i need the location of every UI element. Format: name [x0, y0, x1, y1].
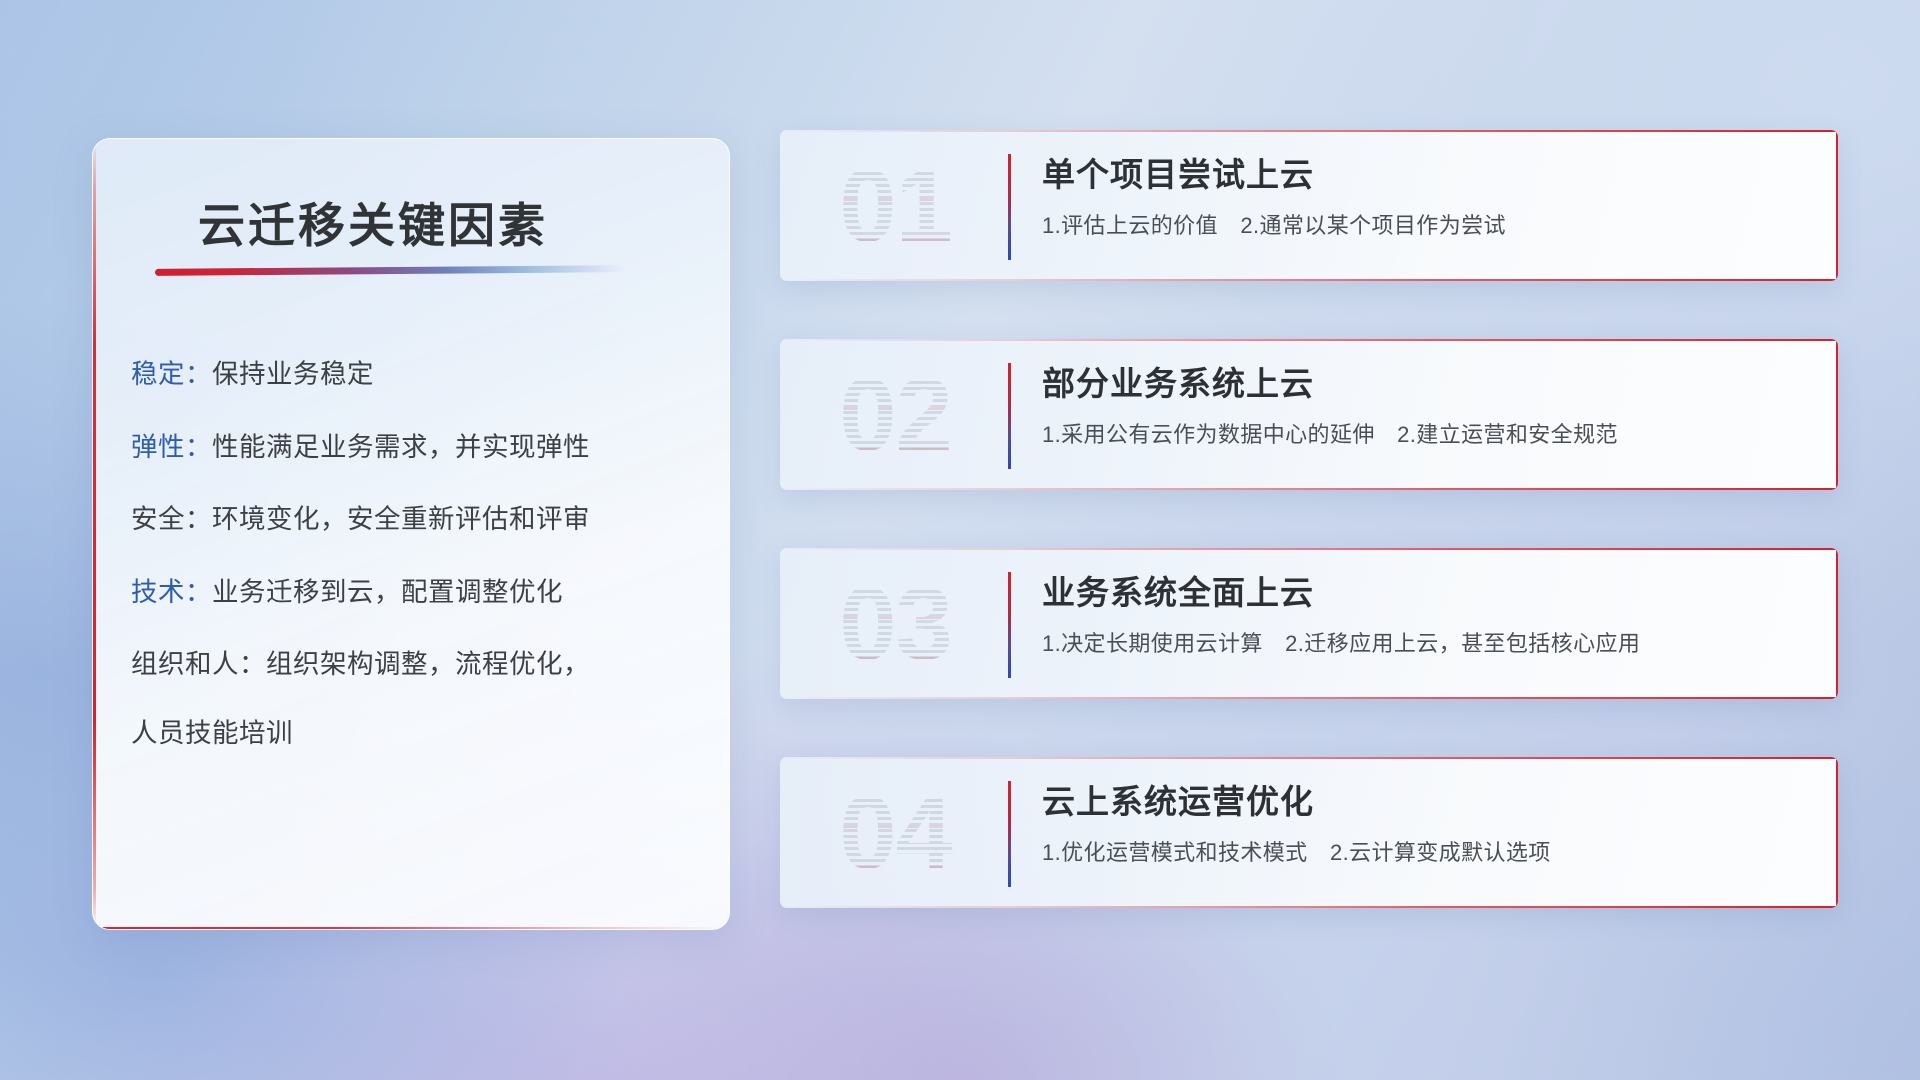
key-factor-row: 弹性：性能满足业务需求，并实现弹性: [131, 434, 711, 461]
key-factor-label: 安全：: [131, 504, 212, 534]
card-bottom-accent-edge: [780, 279, 1838, 281]
key-factor-row: 组织和人：组织架构调整，流程优化，: [131, 651, 711, 678]
stage-subtitle: 1.优化运营模式和技术模式 2.云计算变成默认选项: [1042, 835, 1551, 867]
stage-number-watermark-accent: 02: [808, 351, 983, 479]
stage-title: 部分业务系统上云: [1042, 357, 1314, 405]
card-right-accent-edge: [1836, 130, 1838, 281]
card-divider-bar: [1008, 154, 1011, 260]
key-factor-text: 性能满足业务需求，并实现弹性: [212, 432, 590, 462]
stage-subtitle: 1.决定长期使用云计算 2.迁移应用上云，甚至包括核心应用: [1042, 626, 1640, 658]
card-bottom-accent-edge: [780, 697, 1838, 699]
stage-card[interactable]: 0202部分业务系统上云1.采用公有云作为数据中心的延伸 2.建立运营和安全规范: [780, 339, 1838, 490]
panel-bottom-accent-edge: [93, 927, 729, 930]
key-factor-row: 安全：环境变化，安全重新评估和评审: [131, 506, 711, 533]
key-factor-text: 组织架构调整，流程优化，: [266, 649, 590, 679]
stage-subtitle: 1.评估上云的价值 2.通常以某个项目作为尝试: [1042, 208, 1506, 240]
card-bottom-accent-edge: [780, 488, 1838, 490]
card-top-accent-edge: [780, 339, 1838, 341]
key-factors-panel: 云迁移关键因素 稳定：保持业务稳定弹性：性能满足业务需求，并实现弹性安全：环境变…: [92, 138, 730, 930]
key-factor-label: 技术：: [131, 577, 212, 607]
panel-title-underline: [155, 265, 625, 276]
card-top-accent-edge: [780, 757, 1838, 759]
card-right-accent-edge: [1836, 339, 1838, 490]
stage-title: 云上系统运营优化: [1042, 775, 1314, 823]
key-factor-row: 稳定：保持业务稳定: [131, 361, 711, 388]
key-factor-label: 组织和人：: [131, 649, 266, 679]
key-factor-text: 保持业务稳定: [212, 359, 374, 389]
stage-title: 单个项目尝试上云: [1042, 148, 1314, 196]
card-divider-bar: [1008, 363, 1011, 469]
key-factor-text: 人员技能培训: [131, 718, 293, 748]
key-factor-row: 技术：业务迁移到云，配置调整优化: [131, 579, 711, 606]
key-factor-label: 弹性：: [131, 432, 212, 462]
stage-number-watermark-accent: 03: [808, 560, 983, 688]
card-right-accent-edge: [1836, 548, 1838, 699]
stage-subtitle: 1.采用公有云作为数据中心的延伸 2.建立运营和安全规范: [1042, 417, 1618, 449]
card-bottom-accent-edge: [780, 906, 1838, 908]
stage-title: 业务系统全面上云: [1042, 566, 1314, 614]
panel-title: 云迁移关键因素: [198, 187, 548, 256]
key-factor-text: 环境变化，安全重新评估和评审: [212, 504, 590, 534]
key-factors-list: 稳定：保持业务稳定弹性：性能满足业务需求，并实现弹性安全：环境变化，安全重新评估…: [131, 361, 711, 788]
stage-number-watermark-accent: 01: [808, 142, 983, 270]
card-top-accent-edge: [780, 130, 1838, 132]
card-right-accent-edge: [1836, 757, 1838, 908]
card-divider-bar: [1008, 572, 1011, 678]
key-factor-text: 业务迁移到云，配置调整优化: [212, 577, 563, 607]
stage-card[interactable]: 0404云上系统运营优化1.优化运营模式和技术模式 2.云计算变成默认选项: [780, 757, 1838, 908]
stages-card-list: 0101单个项目尝试上云1.评估上云的价值 2.通常以某个项目作为尝试0202部…: [780, 130, 1838, 966]
stage-number-watermark-accent: 04: [808, 769, 983, 897]
card-divider-bar: [1008, 781, 1011, 887]
panel-left-accent-edge: [93, 139, 96, 929]
key-factor-row: 人员技能培训: [131, 720, 711, 747]
stage-card[interactable]: 0303业务系统全面上云1.决定长期使用云计算 2.迁移应用上云，甚至包括核心应…: [780, 548, 1838, 699]
key-factor-label: 稳定：: [131, 359, 212, 389]
stage-card[interactable]: 0101单个项目尝试上云1.评估上云的价值 2.通常以某个项目作为尝试: [780, 130, 1838, 281]
card-top-accent-edge: [780, 548, 1838, 550]
